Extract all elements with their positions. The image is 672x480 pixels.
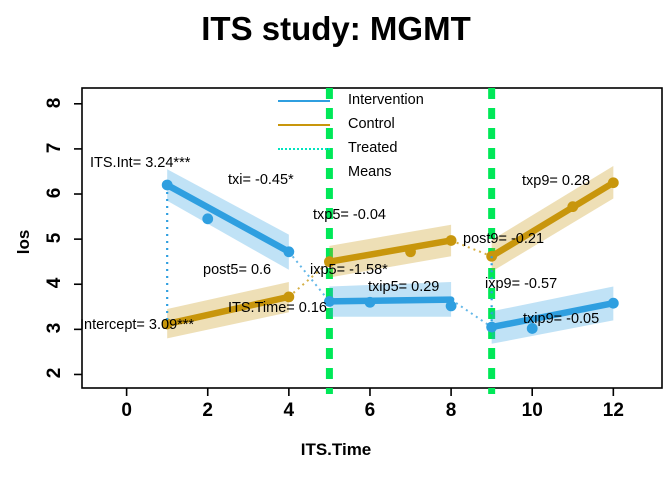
stat-annotation: ixp5= -1.58* [310, 262, 388, 278]
stat-annotation: txip5= 0.29 [368, 279, 439, 295]
data-point [446, 300, 457, 311]
y-tick-label: 8 [44, 90, 66, 116]
stat-annotation: txip9= -0.05 [523, 311, 599, 327]
x-tick-label: 4 [271, 400, 307, 422]
data-point [567, 201, 578, 212]
stat-annotation: txi= -0.45* [228, 172, 294, 188]
fitted-line [167, 185, 289, 252]
legend-swatch-treated [278, 148, 330, 150]
stat-annotation: txp5= -0.04 [313, 207, 386, 223]
data-point [608, 298, 619, 309]
legend-label: Means [348, 164, 392, 180]
data-point [365, 297, 376, 308]
x-tick-label: 12 [595, 400, 631, 422]
legend-label: Treated [348, 140, 397, 156]
y-tick-label: 2 [44, 360, 66, 386]
x-tick-label: 2 [190, 400, 226, 422]
x-axis-label: ITS.Time [256, 440, 416, 460]
chart-figure: ITS study: MGMT 2345678024681012 los ITS… [0, 0, 672, 480]
legend-swatch-intervention [278, 100, 330, 102]
stat-annotation: ixp9= -0.57 [485, 276, 557, 292]
x-tick-label: 8 [433, 400, 469, 422]
stat-annotation: txp9= 0.28 [522, 173, 590, 189]
stat-annotation: ITS.Time= 0.16 [228, 300, 327, 316]
y-axis-label: los [14, 212, 34, 272]
data-point [202, 213, 213, 224]
data-point [446, 235, 457, 246]
y-tick-label: 4 [44, 270, 66, 296]
x-tick-label: 6 [352, 400, 388, 422]
data-point [608, 177, 619, 188]
y-tick-label: 5 [44, 225, 66, 251]
legend-swatch-control [278, 124, 330, 126]
y-tick-label: 6 [44, 180, 66, 206]
legend-label: Control [348, 116, 395, 132]
plot-box [82, 88, 662, 388]
y-tick-label: 7 [44, 135, 66, 161]
treated-connector [451, 300, 492, 328]
data-point [283, 246, 294, 257]
stat-annotation: Intercept= 3.09*** [80, 317, 194, 333]
fitted-line [329, 300, 451, 302]
stat-annotation: post9= -0.21 [463, 231, 544, 247]
y-tick-label: 3 [44, 315, 66, 341]
plot-canvas [0, 0, 672, 480]
x-tick-label: 0 [109, 400, 145, 422]
stat-annotation: post5= 0.6 [203, 262, 271, 278]
x-tick-label: 10 [514, 400, 550, 422]
data-point [405, 246, 416, 257]
stat-annotation: ITS.Int= 3.24*** [90, 155, 190, 171]
legend-label: Intervention [348, 92, 424, 108]
